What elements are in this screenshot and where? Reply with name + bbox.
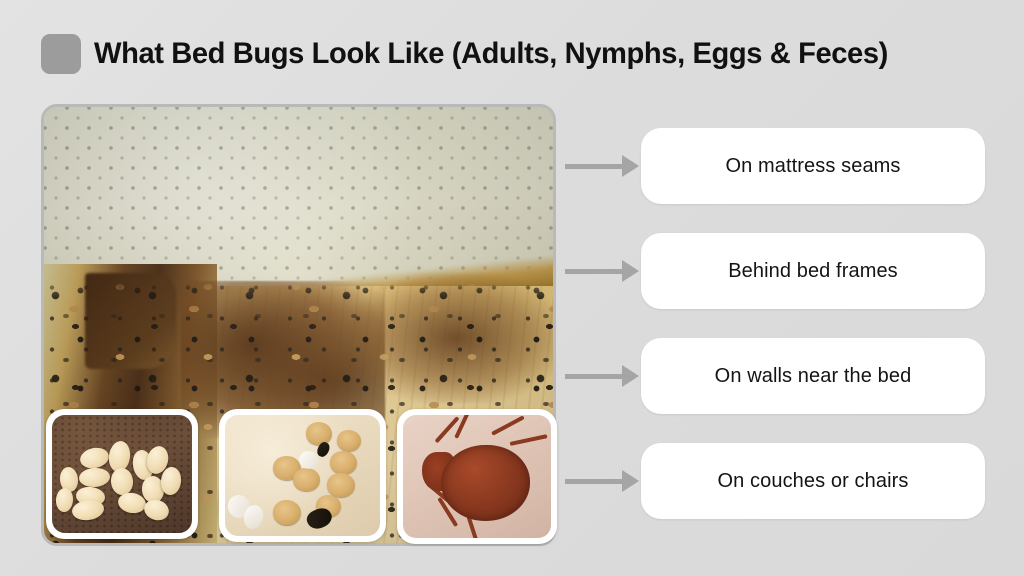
arrow-head — [622, 470, 639, 492]
title-bullet-icon — [41, 34, 81, 74]
callout-label: On walls near the bed — [715, 365, 912, 388]
thumbnail-adult-image — [403, 415, 551, 538]
callout-label: On couches or chairs — [718, 470, 909, 493]
callout-card-mattress-seams[interactable]: On mattress seams — [641, 128, 985, 204]
arrow-shaft — [565, 269, 623, 274]
arrow-right-icon — [565, 368, 639, 384]
slide-canvas: What Bed Bugs Look Like (Adults, Nymphs,… — [0, 0, 1024, 576]
nymph-shape — [293, 468, 319, 491]
arrow-shaft — [565, 164, 623, 169]
slide-header: What Bed Bugs Look Like (Adults, Nymphs,… — [0, 22, 1024, 86]
nymph-shape — [330, 451, 356, 474]
callout-label: Behind bed frames — [728, 260, 898, 283]
bed-bug-body — [441, 445, 530, 521]
arrow-head — [622, 365, 639, 387]
callout-card-couches-chairs[interactable]: On couches or chairs — [641, 443, 985, 519]
callout-card-walls[interactable]: On walls near the bed — [641, 338, 985, 414]
arrow-shaft — [565, 374, 623, 379]
nymph-shape — [273, 500, 301, 525]
callout-card-bed-frames[interactable]: Behind bed frames — [641, 233, 985, 309]
thumbnail-bed-bug-nymphs — [219, 409, 386, 542]
thumbnail-bed-bug-eggs — [46, 409, 198, 539]
arrow-head — [622, 260, 639, 282]
arrow-right-icon — [565, 263, 639, 279]
thumbnail-nymphs-image — [225, 415, 380, 536]
nymph-shape — [306, 422, 332, 445]
arrow-head — [622, 155, 639, 177]
arrow-right-icon — [565, 473, 639, 489]
arrow-right-icon — [565, 158, 639, 174]
arrow-shaft — [565, 479, 623, 484]
callout-label: On mattress seams — [725, 155, 900, 178]
page-title: What Bed Bugs Look Like (Adults, Nymphs,… — [94, 37, 888, 71]
thumbnail-bed-bug-adult — [397, 409, 557, 544]
thumbnail-eggs-image — [52, 415, 192, 533]
